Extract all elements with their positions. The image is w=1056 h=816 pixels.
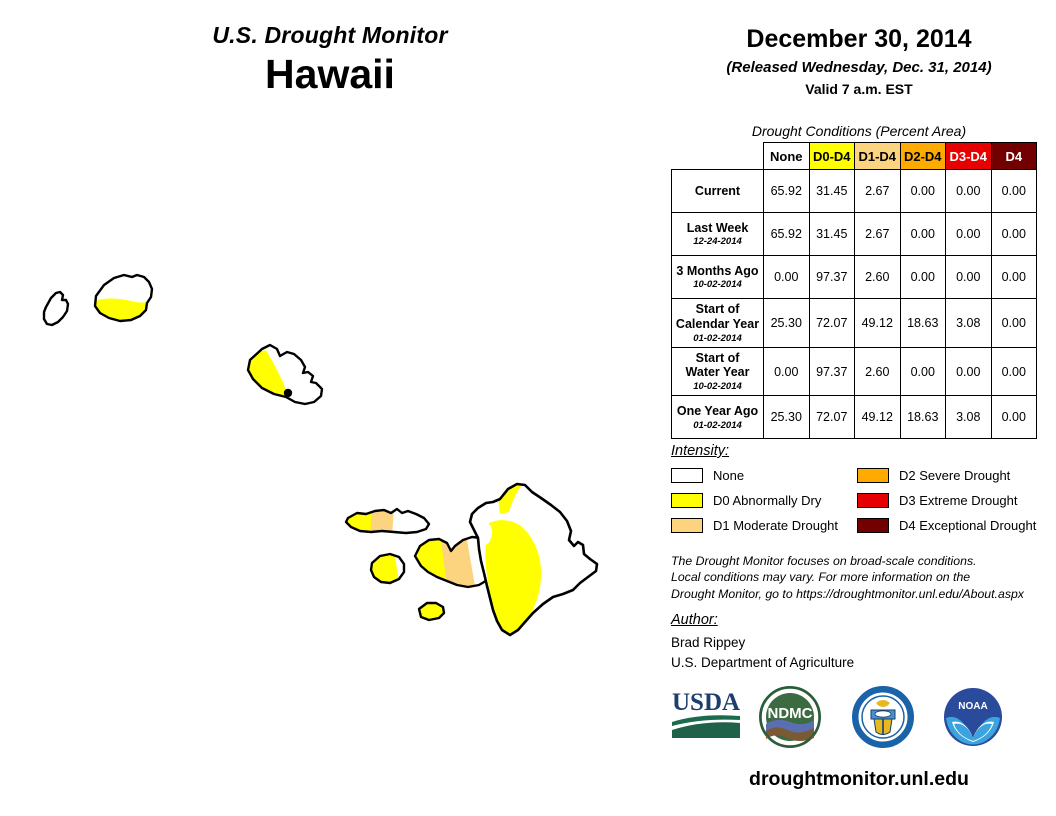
- legend-item: D2 Severe Drought: [857, 465, 1043, 485]
- table-cell: 0.00: [764, 256, 810, 299]
- legend-swatch: [857, 468, 889, 483]
- island-lanai: [366, 552, 404, 586]
- table-row: One Year Ago01-02-201425.3072.0749.1218.…: [672, 396, 1037, 439]
- table-cell: 97.37: [809, 347, 855, 396]
- author-title: Author:: [671, 612, 1051, 628]
- drought-conditions-table: NoneD0-D4D1-D4D2-D4D3-D4D4 Current65.923…: [671, 142, 1037, 439]
- table-cell: 72.07: [809, 299, 855, 348]
- row-label-line: 3 Months Ago: [674, 264, 761, 279]
- legend-label: None: [713, 468, 744, 483]
- table-cell: 2.67: [855, 213, 901, 256]
- table-cell: 18.63: [900, 299, 946, 348]
- table-row-sublabel: 10-02-2014: [674, 381, 761, 392]
- table-cell: 49.12: [855, 299, 901, 348]
- row-label-line: Last Week: [674, 221, 761, 236]
- note-line-2: Local conditions may vary. For more info…: [671, 569, 1056, 585]
- commerce-seal-logo: [852, 686, 914, 748]
- usda-logo-text: USDA: [672, 689, 740, 716]
- legend-label: D1 Moderate Drought: [713, 518, 838, 533]
- table-col-header-d2-d4: D2-D4: [900, 143, 946, 170]
- row-label-line: One Year Ago: [674, 404, 761, 419]
- table-cell: 18.63: [900, 396, 946, 439]
- table-col-header-none: None: [764, 143, 810, 170]
- island-oahu: [244, 345, 322, 404]
- disclaimer-note: The Drought Monitor focuses on broad-sca…: [671, 553, 1056, 602]
- legend-swatch: [671, 468, 703, 483]
- table-col-header-d4: D4: [991, 143, 1037, 170]
- table-cell: 0.00: [764, 347, 810, 396]
- table-row: 3 Months Ago10-02-20140.0097.372.600.000…: [672, 256, 1037, 299]
- table-corner-cell: [672, 143, 764, 170]
- table-row: Start ofWater Year10-02-20140.0097.372.6…: [672, 347, 1037, 396]
- legend-label: D0 Abnormally Dry: [713, 493, 821, 508]
- table-cell: 0.00: [946, 256, 992, 299]
- author-name: Brad Rippey: [671, 633, 1051, 653]
- table-col-header-d1-d4: D1-D4: [855, 143, 901, 170]
- table-row: Last Week12-24-201465.9231.452.670.000.0…: [672, 213, 1037, 256]
- noaa-logo-text: NOAA: [958, 701, 987, 712]
- table-cell: 72.07: [809, 396, 855, 439]
- legend-item: D3 Extreme Drought: [857, 490, 1043, 510]
- table-cell: 25.30: [764, 299, 810, 348]
- legend-item: D4 Exceptional Drought: [857, 515, 1043, 535]
- logo-row: USDA NDMC NOAA: [662, 686, 1056, 758]
- legend-swatch: [671, 493, 703, 508]
- table-row-label: 3 Months Ago10-02-2014: [672, 256, 764, 299]
- island-kauai: [90, 275, 158, 328]
- legend-item: None: [671, 465, 857, 485]
- table-cell: 2.60: [855, 347, 901, 396]
- usda-logo: USDA: [670, 686, 742, 740]
- table-body: Current65.9231.452.670.000.000.00Last We…: [672, 170, 1037, 439]
- table-cell: 0.00: [991, 396, 1037, 439]
- legend-label: D2 Severe Drought: [899, 468, 1010, 483]
- table-row-label: Start ofCalendar Year01-02-2014: [672, 299, 764, 348]
- table-header-row: NoneD0-D4D1-D4D2-D4D3-D4D4: [672, 143, 1037, 170]
- note-line-3: Drought Monitor, go to https://droughtmo…: [671, 586, 1056, 602]
- table-cell: 0.00: [946, 170, 992, 213]
- table-cell: 65.92: [764, 213, 810, 256]
- table-cell: 0.00: [991, 256, 1037, 299]
- hawaii-drought-map: [0, 120, 665, 680]
- table-cell: 49.12: [855, 396, 901, 439]
- table-cell: 0.00: [991, 170, 1037, 213]
- legend-label: D4 Exceptional Drought: [899, 518, 1036, 533]
- table-cell: 0.00: [991, 347, 1037, 396]
- program-title: U.S. Drought Monitor: [0, 22, 660, 48]
- legend-item: D0 Abnormally Dry: [671, 490, 857, 510]
- table-cell: 31.45: [809, 170, 855, 213]
- map-svg: [0, 120, 665, 680]
- map-title-block: U.S. Drought Monitor Hawaii: [0, 22, 660, 98]
- legend-swatch: [857, 518, 889, 533]
- author-affiliation: U.S. Department of Agriculture: [671, 653, 1051, 673]
- table-cell: 2.67: [855, 170, 901, 213]
- legend-item: D1 Moderate Drought: [671, 515, 857, 535]
- table-row-sublabel: 01-02-2014: [674, 420, 761, 431]
- island-molokai: [342, 506, 429, 538]
- table-cell: 0.00: [991, 213, 1037, 256]
- legend-label: D3 Extreme Drought: [899, 493, 1018, 508]
- table-row-sublabel: 10-02-2014: [674, 279, 761, 290]
- ndmc-logo-text: NDMC: [768, 705, 813, 722]
- table-col-header-d0-d4: D0-D4: [809, 143, 855, 170]
- table-cell: 0.00: [900, 347, 946, 396]
- ndmc-logo: NDMC: [759, 686, 821, 748]
- table-row: Start ofCalendar Year01-02-201425.3072.0…: [672, 299, 1037, 348]
- legend-swatch: [671, 518, 703, 533]
- table-cell: 0.00: [900, 213, 946, 256]
- table-row-label: Current: [672, 170, 764, 213]
- table-cell: 3.08: [946, 396, 992, 439]
- table-row-sublabel: 12-24-2014: [674, 236, 761, 247]
- table-row: Current65.9231.452.670.000.000.00: [672, 170, 1037, 213]
- drought-monitor-page: U.S. Drought Monitor Hawaii: [0, 0, 1056, 816]
- intensity-legend-title: Intensity:: [671, 443, 1051, 459]
- table-col-header-d3-d4: D3-D4: [946, 143, 992, 170]
- table-cell: 25.30: [764, 396, 810, 439]
- author-block: Author: Brad Rippey U.S. Department of A…: [671, 612, 1051, 672]
- row-label-line: Calendar Year: [674, 317, 761, 332]
- table-row-label: One Year Ago01-02-2014: [672, 396, 764, 439]
- report-released: (Released Wednesday, Dec. 31, 2014): [662, 59, 1056, 76]
- table-cell: 0.00: [900, 256, 946, 299]
- oahu-honolulu-marker: [284, 389, 292, 397]
- row-label-line: Water Year: [674, 365, 761, 380]
- intensity-legend-grid: NoneD2 Severe DroughtD0 Abnormally DryD3…: [671, 465, 1051, 535]
- table-row-sublabel: 01-02-2014: [674, 333, 761, 344]
- table-cell: 3.08: [946, 299, 992, 348]
- table-cell: 0.00: [946, 213, 992, 256]
- report-header: December 30, 2014 (Released Wednesday, D…: [662, 24, 1056, 97]
- report-valid: Valid 7 a.m. EST: [662, 81, 1056, 97]
- noaa-logo: NOAA: [942, 686, 1004, 748]
- intensity-legend: Intensity: NoneD2 Severe DroughtD0 Abnor…: [671, 443, 1051, 535]
- table-cell: 0.00: [946, 347, 992, 396]
- region-title: Hawaii: [0, 52, 660, 98]
- note-line-1: The Drought Monitor focuses on broad-sca…: [671, 553, 1056, 569]
- table-row-label: Start ofWater Year10-02-2014: [672, 347, 764, 396]
- island-hawaii: [469, 482, 597, 636]
- island-kahoolawe: [414, 600, 448, 623]
- table-caption: Drought Conditions (Percent Area): [662, 123, 1056, 139]
- row-label-line: Start of: [674, 351, 761, 366]
- table-cell: 0.00: [991, 299, 1037, 348]
- table-cell: 0.00: [900, 170, 946, 213]
- row-label-line: Current: [674, 184, 761, 199]
- table-cell: 2.60: [855, 256, 901, 299]
- table-row-label: Last Week12-24-2014: [672, 213, 764, 256]
- website-url[interactable]: droughtmonitor.unl.edu: [662, 768, 1056, 791]
- island-niihau: [44, 292, 68, 325]
- table-cell: 65.92: [764, 170, 810, 213]
- table-cell: 31.45: [809, 213, 855, 256]
- report-date: December 30, 2014: [662, 24, 1056, 54]
- table-cell: 97.37: [809, 256, 855, 299]
- legend-swatch: [857, 493, 889, 508]
- row-label-line: Start of: [674, 302, 761, 317]
